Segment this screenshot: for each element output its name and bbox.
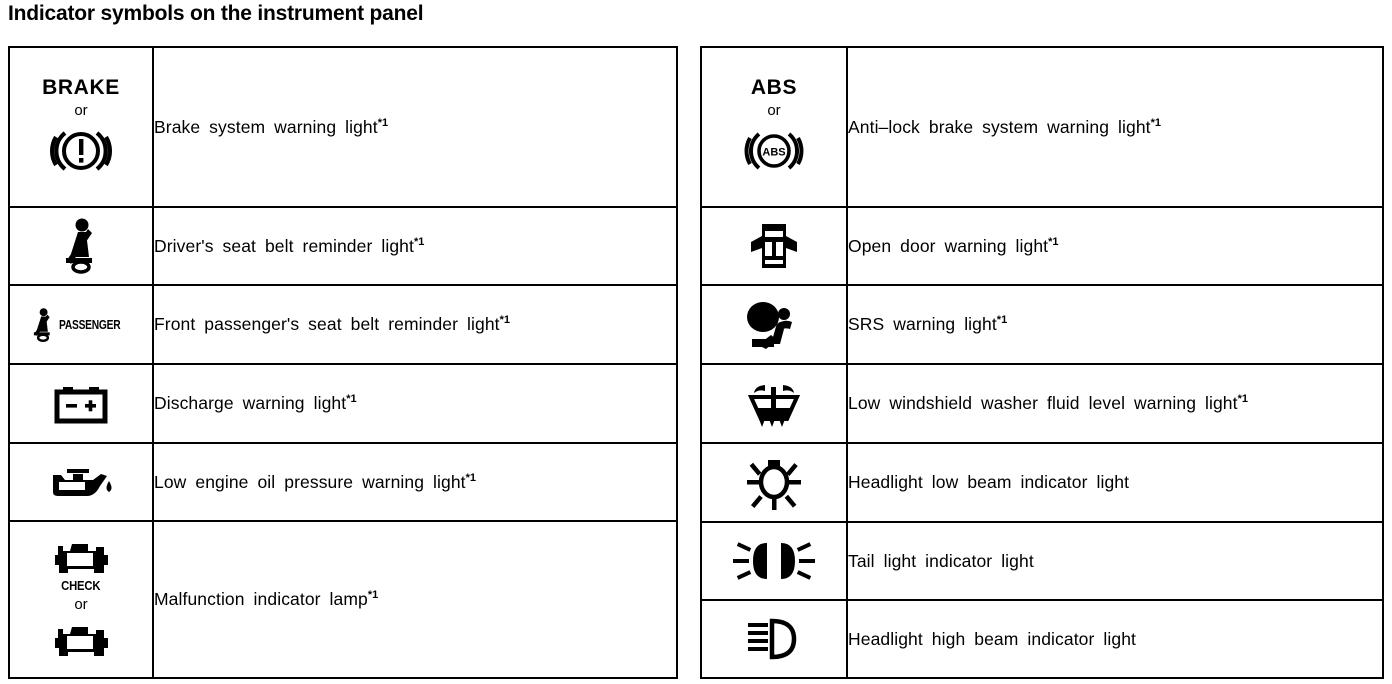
description-text: Front passenger's seat belt reminder lig…: [154, 314, 500, 334]
engine-block-icon: [50, 618, 112, 664]
footnote-marker: *1: [368, 589, 378, 601]
abs-warning-description: Anti–lock brake system warning light*1: [847, 47, 1383, 207]
table-row: PASSENGER Front passenger's seat belt re…: [9, 285, 677, 364]
headlight-high-beam-description: Headlight high beam indicator light: [847, 600, 1383, 678]
car-open-doors-icon: [747, 220, 801, 272]
seated-person-seatbelt-icon: [58, 217, 104, 275]
table-row: SRS warning light*1: [701, 285, 1383, 364]
airbag-person-icon: [744, 299, 804, 351]
footnote-marker: *1: [378, 117, 388, 129]
check-label: CHECK: [61, 579, 100, 593]
description-text: Low windshield washer fluid level warnin…: [848, 393, 1238, 413]
headlight-high-beam-icon-cell: [701, 600, 847, 678]
left-indicator-table: BRAKE or Brake sys: [8, 46, 678, 679]
abs-warning-icon-cell: ABS or ABS: [701, 47, 847, 207]
driver-seat-belt-icon-cell: [9, 207, 153, 285]
table-row: Headlight low beam indicator light: [701, 443, 1383, 522]
or-label: or: [74, 99, 87, 125]
table-row: Low windshield washer fluid level warnin…: [701, 364, 1383, 443]
discharge-warning-description: Discharge warning light*1: [153, 364, 677, 443]
description-text: SRS warning light: [848, 314, 997, 334]
malfunction-indicator-icon-cell: CHECK or: [9, 521, 153, 678]
description-text: Anti–lock brake system warning light: [848, 117, 1151, 137]
circle-abs-brackets-icon: ABS: [741, 124, 807, 178]
footnote-marker: *1: [500, 314, 510, 326]
right-indicator-table: ABS or ABS Anti–lock brake system: [700, 46, 1384, 679]
footnote-marker: *1: [1238, 393, 1248, 405]
oil-pressure-warning-icon-cell: [9, 443, 153, 521]
srs-warning-icon-cell: [701, 285, 847, 364]
table-row: Open door warning light*1: [701, 207, 1383, 285]
table-row: Driver's seat belt reminder light*1: [9, 207, 677, 285]
discharge-warning-icon-cell: [9, 364, 153, 443]
brake-system-warning-icon-cell: BRAKE or: [9, 47, 153, 207]
passenger-label: PASSENGER: [59, 318, 120, 332]
passenger-seat-belt-icon-cell: PASSENGER: [9, 285, 153, 364]
passenger-seat-belt-description: Front passenger's seat belt reminder lig…: [153, 285, 677, 364]
description-text: Discharge warning light: [154, 393, 346, 413]
headlight-low-beam-icon-cell: [701, 443, 847, 522]
table-row: BRAKE or Brake sys: [9, 47, 677, 207]
description-text: Headlight high beam indicator light: [848, 629, 1136, 649]
tail-light-description: Tail light indicator light: [847, 522, 1383, 600]
table-row: Tail light indicator light: [701, 522, 1383, 600]
tail-light-icon-cell: [701, 522, 847, 600]
open-door-warning-icon-cell: [701, 207, 847, 285]
description-text: Malfunction indicator lamp: [154, 589, 368, 609]
seated-person-seatbelt-small-icon: [29, 307, 57, 343]
or-label: or: [767, 99, 780, 125]
brake-symbol-stack: BRAKE or: [10, 76, 152, 179]
d-with-straight-rays-icon: [738, 616, 810, 662]
description-text: Headlight low beam indicator light: [848, 472, 1129, 492]
or-label: or: [74, 593, 87, 619]
brake-system-warning-description: Brake system warning light*1: [153, 47, 677, 207]
table-row: CHECK or Malfunction indicator lamp*1: [9, 521, 677, 678]
table-row: Headlight high beam indicator light: [701, 600, 1383, 678]
description-text: Driver's seat belt reminder light: [154, 236, 414, 256]
table-row: Low engine oil pressure warning light*1: [9, 443, 677, 521]
double-d-rays-icon: [731, 537, 817, 585]
description-text: Open door warning light: [848, 236, 1048, 256]
driver-seat-belt-description: Driver's seat belt reminder light*1: [153, 207, 677, 285]
check-engine-symbol-stack: CHECK or: [10, 535, 152, 665]
washer-fluid-warning-description: Low windshield washer fluid level warnin…: [847, 364, 1383, 443]
circle-exclamation-brackets-icon: [48, 124, 114, 178]
footnote-marker: *1: [414, 236, 424, 248]
table-row: ABS or ABS Anti–lock brake system: [701, 47, 1383, 207]
abs-text-symbol: ABS: [751, 76, 797, 99]
svg-text:ABS: ABS: [762, 147, 785, 159]
footnote-marker: *1: [346, 393, 356, 405]
footnote-marker: *1: [1151, 117, 1161, 129]
table-row: Discharge warning light*1: [9, 364, 677, 443]
windshield-washer-spray-icon: [745, 379, 803, 429]
engine-block-icon: [50, 535, 112, 581]
footnote-marker: *1: [466, 472, 476, 484]
washer-fluid-warning-icon-cell: [701, 364, 847, 443]
oil-can-drip-icon: [43, 462, 119, 502]
headlight-low-beam-description: Headlight low beam indicator light: [847, 443, 1383, 522]
srs-warning-description: SRS warning light*1: [847, 285, 1383, 364]
description-text: Tail light indicator light: [848, 551, 1034, 571]
description-text: Brake system warning light: [154, 117, 378, 137]
malfunction-indicator-description: Malfunction indicator lamp*1: [153, 521, 677, 678]
passenger-symbol-row: PASSENGER: [10, 307, 152, 343]
sun-rays-lamp-icon: [743, 454, 805, 512]
battery-plus-minus-icon: [51, 383, 111, 425]
footnote-marker: *1: [1048, 236, 1058, 248]
footnote-marker: *1: [997, 314, 1007, 326]
oil-pressure-warning-description: Low engine oil pressure warning light*1: [153, 443, 677, 521]
description-text: Low engine oil pressure warning light: [154, 472, 466, 492]
brake-text-symbol: BRAKE: [42, 76, 120, 99]
page-title: Indicator symbols on the instrument pane…: [8, 2, 423, 26]
abs-symbol-stack: ABS or ABS: [702, 76, 846, 179]
indicator-symbol-tables: BRAKE or Brake sys: [0, 46, 1392, 680]
open-door-warning-description: Open door warning light*1: [847, 207, 1383, 285]
